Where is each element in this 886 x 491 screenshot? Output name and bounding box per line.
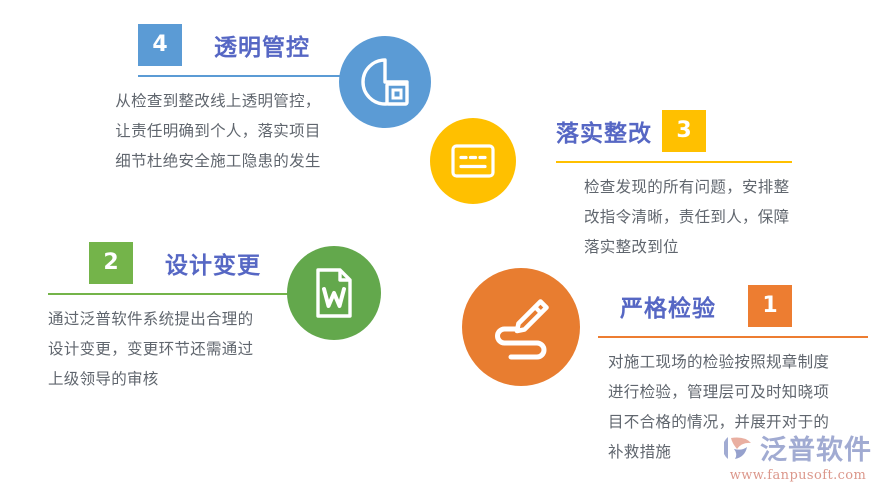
fanpu-logo-icon xyxy=(724,433,756,463)
watermark-brand-row: 泛普软件 xyxy=(724,428,872,467)
pie-chart-square-icon xyxy=(357,54,413,110)
step-3-description: 检查发现的所有问题，安排整 改指令清晰，责任到人，保障 落实整改到位 xyxy=(584,172,856,262)
step-4-number-badge: 4 xyxy=(138,24,182,66)
pencil-sign-icon xyxy=(483,289,559,365)
step-4-icon-circle xyxy=(339,36,431,128)
step-2-description: 通过泛普软件系统提出合理的 设计变更，变更环节还需通过 上级领导的审核 xyxy=(48,304,310,394)
step-3-divider xyxy=(556,161,792,163)
word-document-icon xyxy=(305,264,363,322)
step-4-header: 4 透明管控 xyxy=(68,24,368,66)
step-1-number-badge: 1 xyxy=(748,285,792,327)
step-4-title: 透明管控 xyxy=(214,28,310,62)
step-3-number-badge: 3 xyxy=(662,110,706,152)
watermark-brand-text: 泛普软件 xyxy=(760,428,872,467)
infographic-canvas: 4 透明管控 从检查到整改线上透明管控， 让责任明确到个人，落实项目 细节杜绝安… xyxy=(0,0,886,491)
watermark-url: www.fanpusoft.com xyxy=(730,468,867,483)
watermark: 泛普软件 www.fanpusoft.com xyxy=(724,428,872,483)
step-3-icon-circle xyxy=(430,118,516,204)
step-2-title: 设计变更 xyxy=(165,246,261,280)
step-block-3: 落实整改 3 检查发现的所有问题，安排整 改指令清晰，责任到人，保障 落实整改到… xyxy=(556,110,856,152)
order-card-icon xyxy=(448,136,498,186)
step-3-header: 落实整改 3 xyxy=(556,110,856,152)
step-block-4: 4 透明管控 从检查到整改线上透明管控， 让责任明确到个人，落实项目 细节杜绝安… xyxy=(68,24,368,66)
step-3-title: 落实整改 xyxy=(556,114,652,148)
step-2-icon-circle xyxy=(287,246,381,340)
step-block-1: 严格检验 1 对施工现场的检验按照规章制度 进行检验，管理层可及时知晓项 目不合… xyxy=(598,285,886,327)
step-2-divider xyxy=(48,293,300,295)
step-2-number-badge: 2 xyxy=(89,242,133,284)
step-1-icon-circle xyxy=(462,268,580,386)
step-4-description: 从检查到整改线上透明管控， 让责任明确到个人，落实项目 细节杜绝安全施工隐患的发… xyxy=(68,86,368,176)
step-1-divider xyxy=(598,336,868,338)
step-1-header: 严格检验 1 xyxy=(598,285,886,327)
step-1-title: 严格检验 xyxy=(620,289,716,323)
step-4-divider xyxy=(138,75,371,77)
